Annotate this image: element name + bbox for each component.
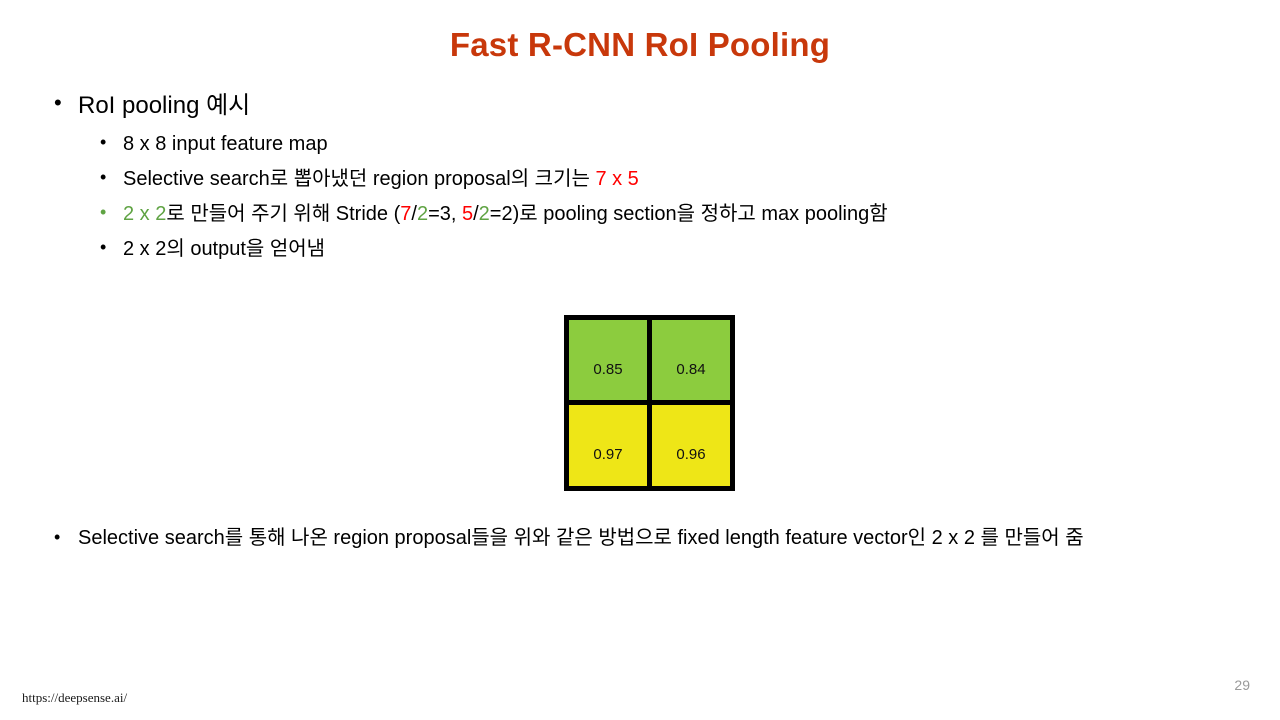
source-url[interactable]: https://deepsense.ai/ [22, 690, 127, 706]
slide-body: • RoI pooling 예시 • 8 x 8 input feature m… [48, 90, 1238, 267]
stride-denominator-2b: 2 [479, 203, 490, 225]
bullet-glyph-icon: • [54, 89, 62, 118]
stride-numerator-7: 7 [400, 203, 411, 225]
bullet-summary-paragraph: • Selective search를 통해 나온 region proposa… [48, 524, 1260, 553]
bullet-glyph-icon: • [100, 232, 106, 264]
bullet-region-proposal-size: • Selective search로 뽑아냈던 region proposal… [48, 162, 1238, 197]
bullet-glyph-icon: • [100, 197, 106, 229]
page-title: Fast R-CNN RoI Pooling [0, 26, 1280, 64]
pooling-grid-table: 0.85 0.84 0.97 0.96 [564, 315, 735, 491]
pooling-cell-r1c1: 0.96 [652, 405, 730, 486]
bullet-output-result: • 2 x 2의 output을 얻어냄 [48, 232, 1238, 267]
bullet-stride-calculation: •2 x 2로 만들어 주기 위해 Stride (7/2=3, 5/2=2)로… [48, 197, 1238, 232]
stride-text-1: 로 만들어 주기 위해 Stride ( [166, 203, 400, 225]
region-proposal-size-value: 7 x 5 [595, 168, 638, 190]
pooling-output-grid: 0.85 0.84 0.97 0.96 [564, 315, 735, 491]
pooling-cell-r0c0: 0.85 [569, 320, 647, 400]
bullet-input-feature-map: • 8 x 8 input feature map [48, 127, 1238, 162]
bullet-glyph-icon: • [100, 162, 106, 194]
stride-text-2: =2)로 pooling section을 정하고 max pooling함 [490, 203, 888, 225]
stride-numerator-5: 5 [462, 203, 473, 225]
stride-result-1: =3, [428, 203, 462, 225]
stride-denominator-2a: 2 [417, 203, 428, 225]
pooling-cell-r0c1: 0.84 [652, 320, 730, 400]
bullet-glyph-icon: • [100, 127, 106, 159]
region-proposal-text: Selective search로 뽑아냈던 region proposal의 … [123, 168, 595, 190]
summary-paragraph-text: Selective search를 통해 나온 region proposal들… [78, 524, 1260, 553]
bullet-level1-label: RoI pooling 예시 [78, 92, 250, 119]
bullet-input-feature-map-label: 8 x 8 input feature map [123, 133, 328, 155]
stride-output-size: 2 x 2 [123, 203, 166, 225]
slide: Fast R-CNN RoI Pooling • RoI pooling 예시 … [0, 0, 1280, 720]
bullet-output-result-label: 2 x 2의 output을 얻어냄 [123, 238, 325, 260]
pooling-cell-r1c0: 0.97 [569, 405, 647, 486]
bullet-level2-group: • 8 x 8 input feature map • Selective se… [48, 127, 1238, 267]
page-number: 29 [1234, 677, 1250, 693]
bullet-glyph-icon: • [54, 524, 60, 550]
bullet-level1-roi-pooling-example: • RoI pooling 예시 [48, 90, 1238, 121]
